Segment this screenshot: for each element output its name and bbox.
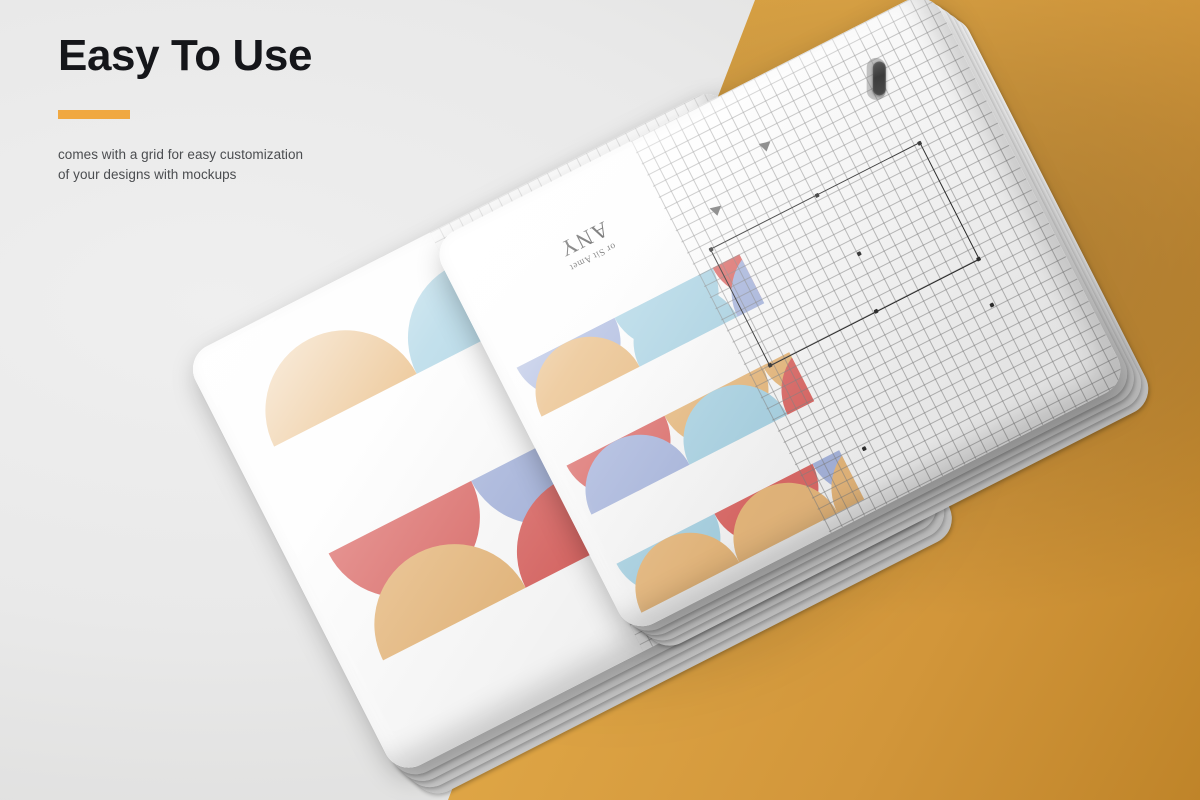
- guide-anchor-tl[interactable]: [709, 247, 714, 252]
- camera-cutout-icon: [872, 61, 885, 95]
- notebook-mockup: or Sit Amet ANY: [0, 0, 1200, 800]
- guide-anchor-tm[interactable]: [814, 193, 819, 198]
- scene-stage: Easy To Use comes with a grid for easy c…: [0, 0, 1200, 800]
